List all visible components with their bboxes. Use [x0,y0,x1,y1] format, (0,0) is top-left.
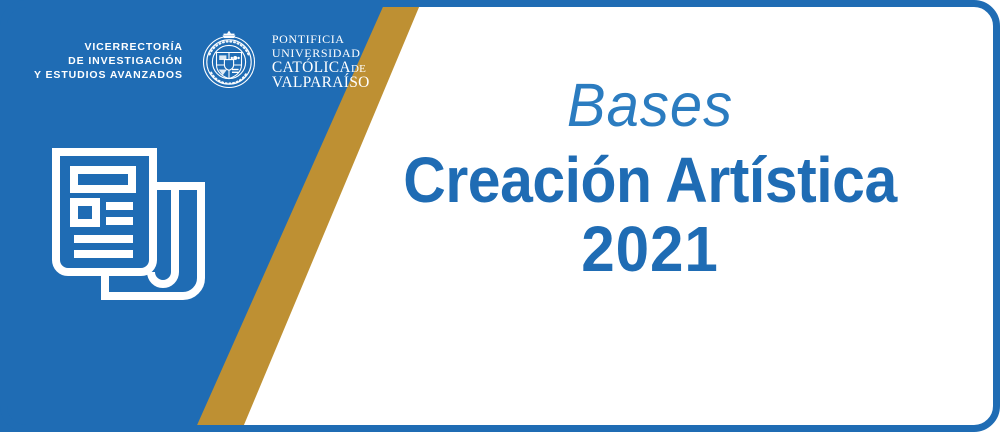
university-line-1: PONTIFICIA [272,32,370,47]
newspaper-icon [45,140,220,300]
bases-creacion-artistica-banner: VICERRECTORÍA DE INVESTIGACIÓN Y ESTUDIO… [0,0,1000,432]
title-block: Bases Creación Artística 2021 [330,74,970,284]
vicerrectoria-line-1: VICERRECTORÍA [34,40,183,54]
title-year: 2021 [349,214,951,284]
institutional-lockup: VICERRECTORÍA DE INVESTIGACIÓN Y ESTUDIO… [34,28,370,94]
vicerrectoria-text-block: VICERRECTORÍA DE INVESTIGACIÓN Y ESTUDIO… [34,40,196,82]
vicerrectoria-line-2: DE INVESTIGACIÓN [34,54,183,68]
page-title: Creación Artística [356,146,945,214]
kicker-bases: Bases [330,72,970,139]
vicerrectoria-line-3: Y ESTUDIOS AVANZADOS [34,68,183,82]
university-seal-icon [196,28,262,94]
